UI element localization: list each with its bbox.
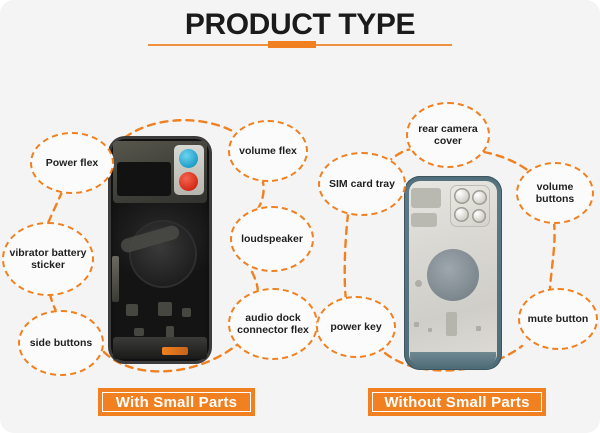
- label-bubble-volume-flex[interactable]: volume flex: [228, 120, 308, 182]
- label-text-sim-card-tray: SIM card tray: [326, 178, 398, 190]
- label-bubble-loudspeaker[interactable]: loudspeaker: [230, 206, 314, 272]
- label-bubble-vibrator-battery-sticker[interactable]: vibrator battery sticker: [2, 222, 94, 296]
- cta-without-small-parts[interactable]: Without Small Parts: [368, 388, 546, 416]
- label-text-vibrator-battery-sticker: vibrator battery sticker: [6, 247, 89, 271]
- label-bubble-volume-buttons[interactable]: volume buttons: [516, 162, 594, 224]
- label-text-audio-dock-connector-flex: audio dock connector flex: [234, 312, 312, 336]
- label-bubble-power-flex[interactable]: Power flex: [30, 132, 114, 194]
- label-text-power-key: power key: [327, 321, 384, 333]
- label-text-volume-flex: volume flex: [236, 145, 300, 157]
- label-bubble-sim-card-tray[interactable]: SIM card tray: [318, 152, 406, 216]
- label-bubble-mute-button[interactable]: mute button: [518, 288, 598, 350]
- phone-image-with-small-parts: [108, 136, 212, 364]
- cta-label-without-small-parts: Without Small Parts: [384, 394, 529, 411]
- phone-image-without-small-parts: [404, 176, 502, 370]
- label-text-side-buttons: side buttons: [27, 337, 95, 349]
- curve-simtray-to-powerkey: [345, 214, 348, 300]
- label-bubble-audio-dock-connector-flex[interactable]: audio dock connector flex: [228, 288, 318, 360]
- product-type-infographic: PRODUCT TYPE: [0, 0, 600, 433]
- label-text-rear-camera-cover: rear camera cover: [415, 123, 481, 147]
- label-text-mute-button: mute button: [525, 313, 592, 325]
- cta-label-with-small-parts: With Small Parts: [116, 394, 237, 411]
- label-bubble-power-key[interactable]: power key: [316, 296, 396, 358]
- label-bubble-side-buttons[interactable]: side buttons: [18, 310, 104, 376]
- label-text-loudspeaker: loudspeaker: [238, 233, 306, 245]
- label-text-power-flex: Power flex: [43, 157, 102, 169]
- curve-rearcamera-to-volumebuttons: [484, 152, 530, 172]
- curve-volumebuttons-to-mutebutton: [550, 222, 555, 288]
- label-bubble-rear-camera-cover[interactable]: rear camera cover: [406, 102, 490, 168]
- label-text-volume-buttons: volume buttons: [533, 181, 578, 205]
- cta-with-small-parts[interactable]: With Small Parts: [98, 388, 255, 416]
